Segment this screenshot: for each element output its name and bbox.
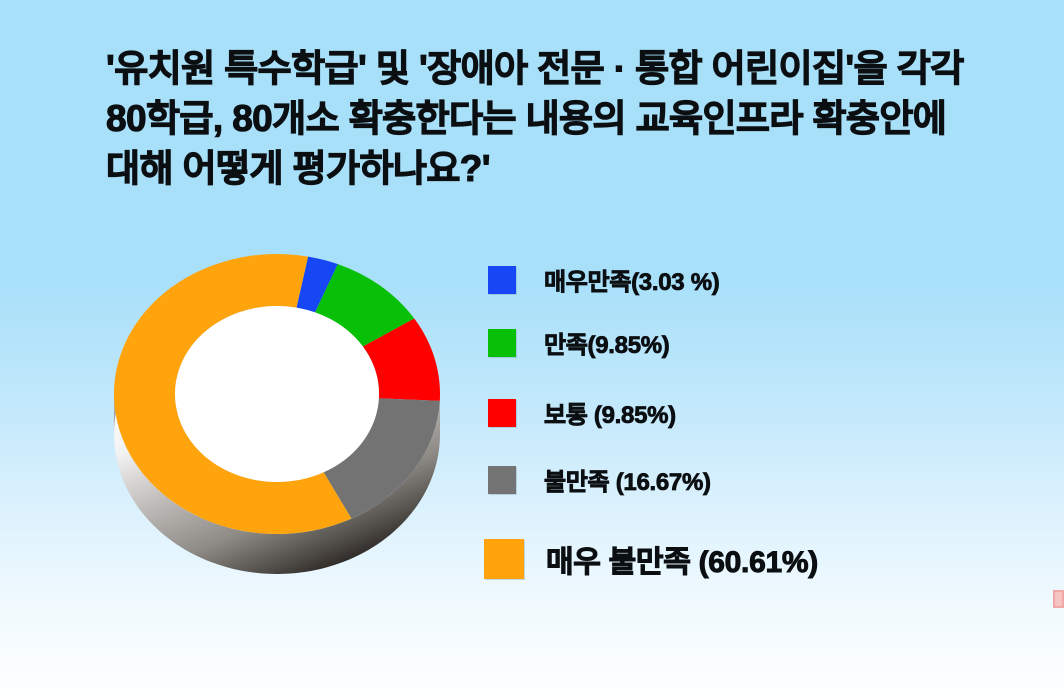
legend-label-very-dissatisfied: 매우 불만족 (60.61%) <box>546 537 818 581</box>
legend-label-neutral: 보통 (9.85%) <box>544 395 676 430</box>
legend-label-dissatisfied: 불만족 (16.67%) <box>544 462 711 497</box>
legend-label-very-satisfied: 매우만족(3.03 %) <box>544 262 719 297</box>
legend-swatch-neutral <box>488 399 516 427</box>
legend-swatch-dissatisfied <box>488 466 516 494</box>
legend-label-satisfied: 만족(9.85%) <box>544 325 670 360</box>
legend-swatch-satisfied <box>488 329 516 357</box>
donut-chart-svg <box>72 196 482 606</box>
donut-chart-3d <box>72 196 482 606</box>
title-line-1: '유치원 특수학급' 및 '장애아 전문 · 통합 어린이집'을 각각 <box>106 44 956 94</box>
edge-artifact-box <box>1053 590 1064 608</box>
title-line-3: 대해 어떻게 평가하나요?' <box>106 144 956 194</box>
title-line-2: 80학급, 80개소 확충한다는 내용의 교육인프라 확충안에 <box>106 94 956 144</box>
poster-canvas: '유치원 특수학급' 및 '장애아 전문 · 통합 어린이집'을 각각 80학급… <box>0 0 1064 695</box>
legend-item-neutral[interactable]: 보통 (9.85%) <box>488 395 676 430</box>
legend-item-dissatisfied[interactable]: 불만족 (16.67%) <box>488 462 711 497</box>
legend-swatch-very-dissatisfied <box>484 539 524 579</box>
legend-swatch-very-satisfied <box>488 266 516 294</box>
legend-item-satisfied[interactable]: 만족(9.85%) <box>488 325 670 360</box>
legend-item-very-dissatisfied[interactable]: 매우 불만족 (60.61%) <box>488 537 818 581</box>
page-title: '유치원 특수학급' 및 '장애아 전문 · 통합 어린이집'을 각각 80학급… <box>106 44 956 194</box>
donut-hole <box>175 306 379 482</box>
legend-item-very-satisfied[interactable]: 매우만족(3.03 %) <box>488 262 719 297</box>
donut-slices <box>114 254 440 534</box>
